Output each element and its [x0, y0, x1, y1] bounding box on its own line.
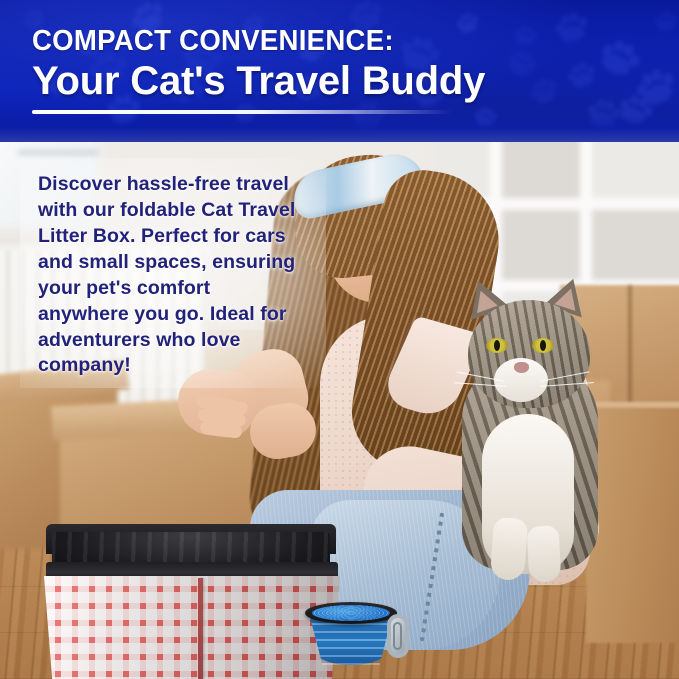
litter-box-gingham-panel: [44, 576, 340, 679]
cat-paw-right: [527, 525, 562, 583]
product-litter-box: [38, 524, 343, 669]
title-underline: [32, 110, 452, 114]
cat: [448, 282, 608, 582]
product-collapsible-bowl: [305, 602, 397, 668]
litter-box-fold-seam: [198, 578, 203, 679]
bowl-interior: [312, 605, 390, 621]
carabiner-gate: [393, 622, 402, 650]
page-title: Your Cat's Travel Buddy: [32, 59, 652, 103]
cat-paw-left: [490, 517, 528, 581]
cat-nose: [514, 362, 529, 373]
header-banner: COMPACT CONVENIENCE: Your Cat's Travel B…: [0, 0, 679, 142]
window-frame: [18, 150, 98, 155]
paw-print-icon: [652, 9, 678, 32]
cat-pupil-right: [540, 340, 546, 351]
product-infographic: COMPACT CONVENIENCE: Your Cat's Travel B…: [0, 0, 679, 679]
banner-bottom-fade: [0, 116, 679, 142]
cat-pupil-left: [494, 340, 500, 351]
description-paragraph: Discover hassle-free travel with our fol…: [38, 172, 306, 379]
banner-eyebrow-title: COMPACT CONVENIENCE:: [32, 26, 621, 57]
banner-title-group: COMPACT CONVENIENCE: Your Cat's Travel B…: [32, 26, 652, 103]
